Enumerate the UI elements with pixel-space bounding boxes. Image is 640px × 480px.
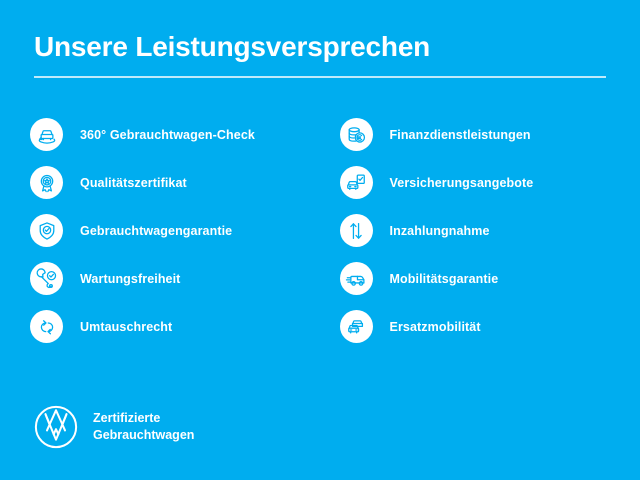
benefit-item-trade-in: Inzahlungnahme — [340, 214, 620, 247]
benefits-left-column: 360° Gebrauchtwagen-Check Qualitätszerti… — [30, 118, 340, 343]
wrench-check-icon — [30, 262, 63, 295]
benefit-item-financial-services: Finanzdienstleistungen — [340, 118, 620, 151]
footer-brand: Zertifizierte Gebrauchtwagen — [33, 404, 194, 450]
award-rosette-icon — [30, 166, 63, 199]
benefit-item-exchange-right: Umtauschrecht — [30, 310, 340, 343]
benefit-label: Ersatzmobilität — [390, 320, 481, 334]
two-cars-icon — [340, 310, 373, 343]
page-title: Unsere Leistungsversprechen — [34, 32, 606, 63]
benefits-columns: 360° Gebrauchtwagen-Check Qualitätszerti… — [30, 118, 620, 343]
benefit-item-maintenance-free: Wartungsfreiheit — [30, 262, 340, 295]
benefit-label: Finanzdienstleistungen — [390, 128, 531, 142]
benefit-label: Inzahlungnahme — [390, 224, 490, 238]
benefit-item-quality-certificate: Qualitätszertifikat — [30, 166, 340, 199]
benefit-label: 360° Gebrauchtwagen-Check — [80, 128, 255, 142]
coins-euro-icon — [340, 118, 373, 151]
shield-check-icon — [30, 214, 63, 247]
benefit-item-insurance: Versicherungsangebote — [340, 166, 620, 199]
promise-panel: Unsere Leistungsversprechen 360° Gebrauc… — [0, 0, 640, 480]
car-clipboard-icon — [340, 166, 373, 199]
footer-line-1: Zertifizierte — [93, 410, 194, 427]
footer-text: Zertifizierte Gebrauchtwagen — [93, 410, 194, 445]
benefits-right-column: Finanzdienstleistungen Versicheru — [340, 118, 620, 343]
benefit-label: Gebrauchtwagengarantie — [80, 224, 232, 238]
volkswagen-logo — [33, 404, 79, 450]
benefit-label: Wartungsfreiheit — [80, 272, 180, 286]
benefit-label: Versicherungsangebote — [390, 176, 534, 190]
benefit-item-mobility-guarantee: Mobilitätsgarantie — [340, 262, 620, 295]
exchange-arrows-icon — [30, 310, 63, 343]
benefit-label: Qualitätszertifikat — [80, 176, 187, 190]
benefit-label: Mobilitätsgarantie — [390, 272, 499, 286]
car-check-360-icon — [30, 118, 63, 151]
footer-line-2: Gebrauchtwagen — [93, 427, 194, 444]
header: Unsere Leistungsversprechen — [34, 32, 606, 78]
arrows-up-down-icon — [340, 214, 373, 247]
benefit-item-warranty: Gebrauchtwagengarantie — [30, 214, 340, 247]
benefit-item-360-check: 360° Gebrauchtwagen-Check — [30, 118, 340, 151]
tow-van-icon — [340, 262, 373, 295]
benefit-item-replacement-mobility: Ersatzmobilität — [340, 310, 620, 343]
header-divider — [34, 76, 606, 78]
benefit-label: Umtauschrecht — [80, 320, 172, 334]
